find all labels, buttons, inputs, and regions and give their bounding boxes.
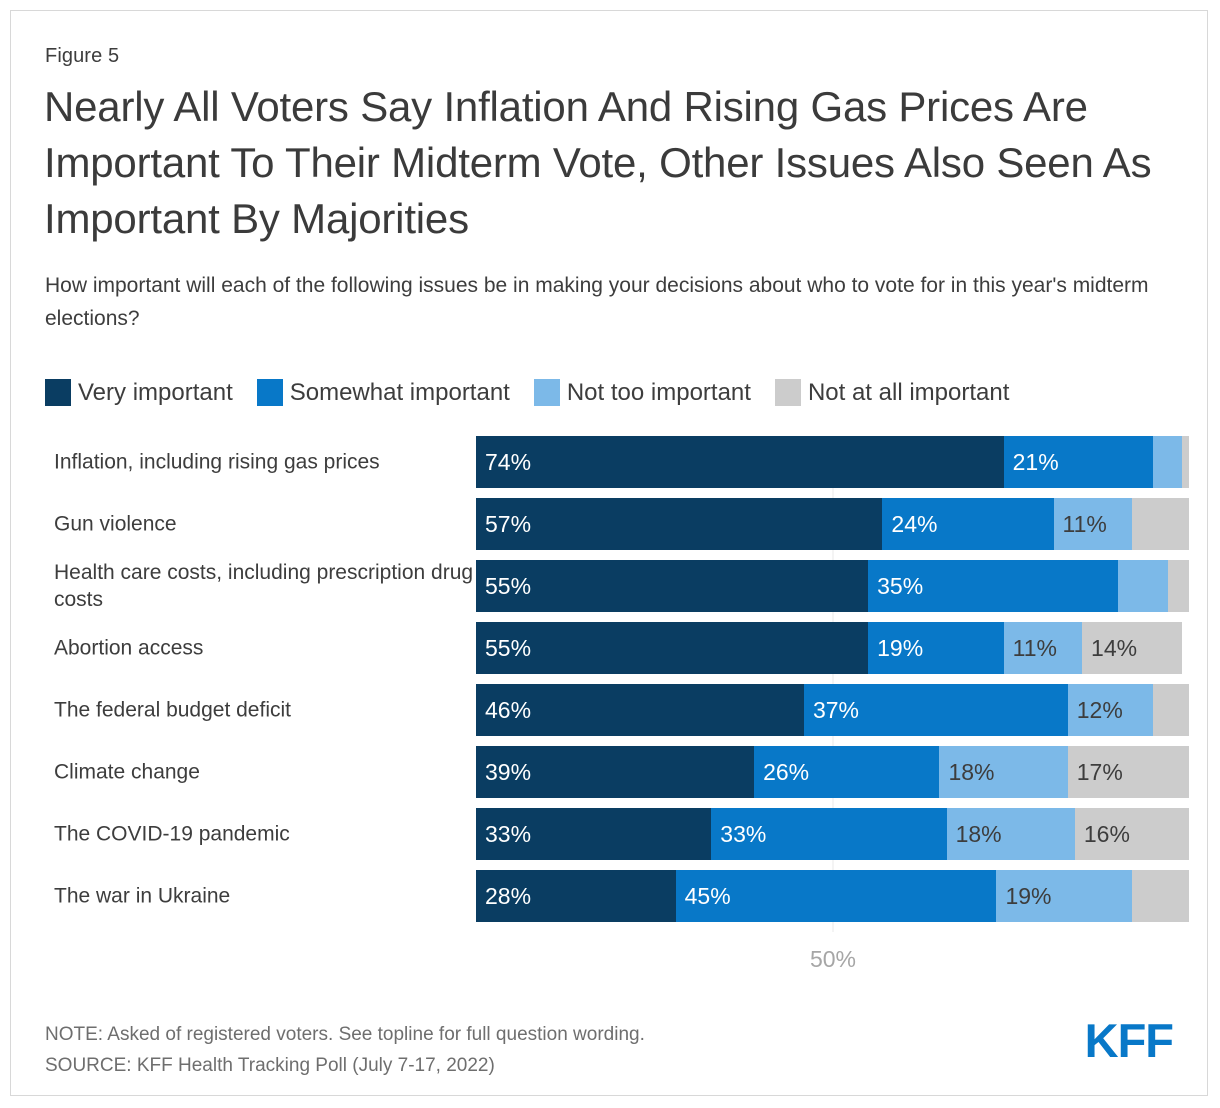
bar-rows: Inflation, including rising gas prices74… — [11, 436, 1209, 932]
bar-segment-value: 11% — [1004, 635, 1057, 662]
legend-label: Very important — [78, 379, 233, 406]
bar-segment-value: 18% — [947, 821, 1002, 848]
legend-item-3[interactable]: Not at all important — [775, 379, 1009, 406]
figure-frame: Figure 5 Nearly All Voters Say Inflation… — [10, 10, 1208, 1096]
legend-item-0[interactable]: Very important — [45, 379, 233, 406]
legend-item-2[interactable]: Not too important — [534, 379, 751, 406]
bar-segment[interactable]: 21% — [1004, 436, 1154, 488]
legend-label: Not at all important — [808, 379, 1009, 406]
bar-segment[interactable]: 24% — [882, 498, 1053, 550]
bar-segment[interactable]: 55% — [476, 560, 868, 612]
footnote: NOTE: Asked of registered voters. See to… — [45, 1019, 645, 1081]
bar-segment-value: 37% — [804, 697, 859, 724]
category-label: The federal budget deficit — [54, 697, 474, 724]
bar-row: Climate change39%26%18%17% — [11, 746, 1209, 798]
bar-segment[interactable]: 18% — [939, 746, 1067, 798]
legend-label: Not too important — [567, 379, 751, 406]
bar-segment[interactable]: 55% — [476, 622, 868, 674]
bar-segment[interactable] — [1132, 498, 1189, 550]
chart-legend: Very importantSomewhat importantNot too … — [45, 379, 1033, 406]
bar-segment[interactable]: 18% — [947, 808, 1075, 860]
bar-segment[interactable]: 57% — [476, 498, 882, 550]
bar-row: The war in Ukraine28%45%19% — [11, 870, 1209, 922]
stacked-bar: 33%33%18%16% — [476, 808, 1189, 860]
bar-segment[interactable] — [1132, 870, 1189, 922]
note-line: NOTE: Asked of registered voters. See to… — [45, 1019, 645, 1050]
page-title: Nearly All Voters Say Inflation And Risi… — [44, 79, 1184, 247]
category-label: Climate change — [54, 759, 474, 786]
figure-number: Figure 5 — [45, 45, 119, 68]
bar-segment-value: 74% — [476, 449, 531, 476]
bar-row: The COVID-19 pandemic33%33%18%16% — [11, 808, 1209, 860]
bar-segment[interactable]: 28% — [476, 870, 676, 922]
bar-segment-value: 17% — [1068, 759, 1123, 786]
bar-row: Abortion access55%19%11%14% — [11, 622, 1209, 674]
bar-segment[interactable]: 19% — [996, 870, 1131, 922]
category-label: Gun violence — [54, 511, 474, 538]
bar-segment-value: 14% — [1082, 635, 1137, 662]
legend-swatch-icon — [45, 379, 71, 406]
bar-segment-value: 19% — [996, 883, 1051, 910]
kff-logo: KFF — [1085, 1016, 1173, 1066]
stacked-bar: 55%35% — [476, 560, 1189, 612]
bar-segment-value: 57% — [476, 511, 531, 538]
bar-segment[interactable]: 45% — [676, 870, 997, 922]
bar-segment[interactable]: 14% — [1082, 622, 1182, 674]
bar-segment-value: 11% — [1054, 511, 1107, 538]
stacked-bar: 57%24%11% — [476, 498, 1189, 550]
bar-row: Gun violence57%24%11% — [11, 498, 1209, 550]
legend-swatch-icon — [775, 379, 801, 406]
source-line: SOURCE: KFF Health Tracking Poll (July 7… — [45, 1050, 645, 1081]
bar-segment[interactable]: 12% — [1068, 684, 1154, 736]
legend-label: Somewhat important — [290, 379, 510, 406]
chart-subtitle: How important will each of the following… — [45, 269, 1175, 335]
bar-segment[interactable]: 16% — [1075, 808, 1189, 860]
bar-segment-value: 24% — [882, 511, 937, 538]
bar-segment-value: 21% — [1004, 449, 1059, 476]
bar-segment[interactable]: 35% — [868, 560, 1118, 612]
bar-segment[interactable] — [1153, 684, 1189, 736]
bar-segment-value: 45% — [676, 883, 731, 910]
bar-segment-value: 39% — [476, 759, 531, 786]
category-label: The war in Ukraine — [54, 883, 474, 910]
bar-segment[interactable]: 46% — [476, 684, 804, 736]
bar-row: Health care costs, including prescriptio… — [11, 560, 1209, 612]
bar-segment-value: 33% — [476, 821, 531, 848]
category-label: Health care costs, including prescriptio… — [54, 559, 474, 613]
bar-segment-value: 55% — [476, 635, 531, 662]
bar-segment-value: 26% — [754, 759, 809, 786]
bar-row: Inflation, including rising gas prices74… — [11, 436, 1209, 488]
stacked-bar: 55%19%11%14% — [476, 622, 1189, 674]
bar-segment-value: 18% — [939, 759, 994, 786]
bar-segment[interactable] — [1182, 436, 1189, 488]
legend-item-1[interactable]: Somewhat important — [257, 379, 510, 406]
x-axis-tick-50: 50% — [773, 946, 893, 973]
stacked-bar: 39%26%18%17% — [476, 746, 1189, 798]
legend-swatch-icon — [257, 379, 283, 406]
bar-segment[interactable]: 74% — [476, 436, 1004, 488]
bar-segment[interactable]: 11% — [1004, 622, 1082, 674]
bar-row: The federal budget deficit46%37%12% — [11, 684, 1209, 736]
bar-segment[interactable] — [1153, 436, 1182, 488]
bar-segment-value: 16% — [1075, 821, 1130, 848]
category-label: Abortion access — [54, 635, 474, 662]
category-label: Inflation, including rising gas prices — [54, 449, 474, 476]
category-label: The COVID-19 pandemic — [54, 821, 474, 848]
stacked-bar: 46%37%12% — [476, 684, 1189, 736]
bar-segment-value: 35% — [868, 573, 923, 600]
bar-segment-value: 28% — [476, 883, 531, 910]
stacked-bar: 28%45%19% — [476, 870, 1189, 922]
bar-segment[interactable]: 11% — [1054, 498, 1132, 550]
bar-segment[interactable]: 39% — [476, 746, 754, 798]
bar-segment-value: 12% — [1068, 697, 1123, 724]
bar-segment[interactable] — [1168, 560, 1189, 612]
bar-segment[interactable] — [1118, 560, 1168, 612]
bar-segment-value: 55% — [476, 573, 531, 600]
chart-plot-area: Inflation, including rising gas prices74… — [11, 436, 1209, 946]
bar-segment[interactable]: 26% — [754, 746, 939, 798]
bar-segment[interactable]: 19% — [868, 622, 1003, 674]
bar-segment[interactable]: 17% — [1068, 746, 1189, 798]
bar-segment[interactable]: 33% — [711, 808, 946, 860]
legend-swatch-icon — [534, 379, 560, 406]
stacked-bar: 74%21% — [476, 436, 1189, 488]
bar-segment[interactable]: 33% — [476, 808, 711, 860]
bar-segment[interactable]: 37% — [804, 684, 1068, 736]
bar-segment-value: 19% — [868, 635, 923, 662]
bar-segment-value: 46% — [476, 697, 531, 724]
bar-segment-value: 33% — [711, 821, 766, 848]
